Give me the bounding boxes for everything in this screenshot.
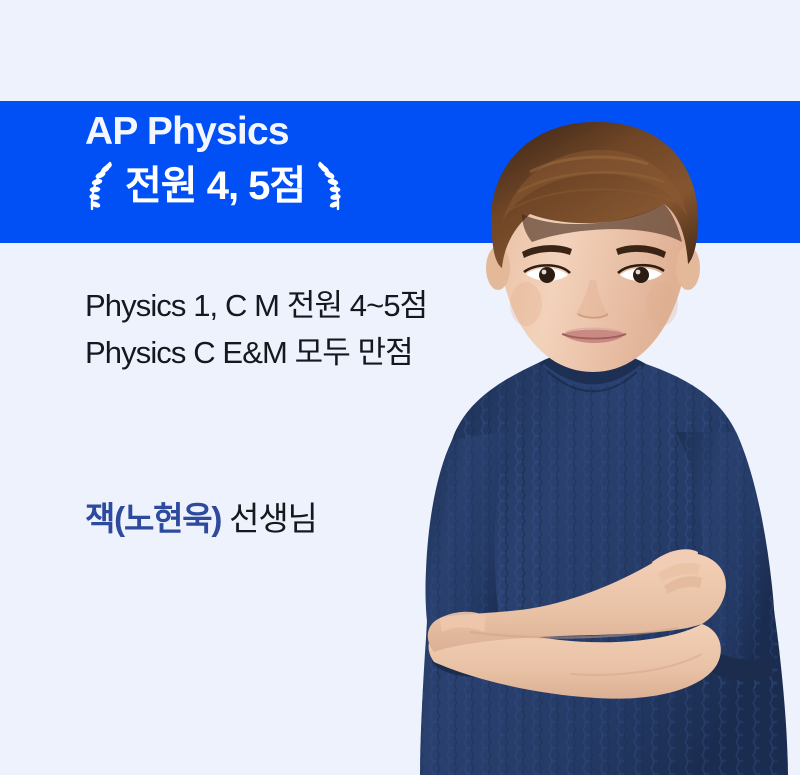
banner-subtitle-row: 전원 4, 5점	[85, 159, 505, 213]
teacher-name: 잭(노현욱)	[85, 500, 221, 537]
body-copy: Physics 1, C M 전원 4~5점 Physics C E&M 모두 …	[85, 282, 505, 376]
body-line-2: Physics C E&M 모두 만점	[85, 329, 505, 376]
banner-title: AP Physics	[85, 110, 505, 154]
banner-text-block: AP Physics 전원 4, 5점	[85, 110, 505, 213]
banner-subtitle: 전원 4, 5점	[125, 166, 305, 206]
laurel-branch-icon	[85, 160, 115, 212]
body-line-1: Physics 1, C M 전원 4~5점	[85, 282, 505, 329]
teacher-line: 잭(노현욱) 선생님	[85, 498, 317, 541]
teacher-suffix: 선생님	[221, 500, 316, 537]
promo-card: AP Physics 전원 4, 5점	[0, 0, 800, 775]
laurel-branch-icon	[315, 160, 345, 212]
